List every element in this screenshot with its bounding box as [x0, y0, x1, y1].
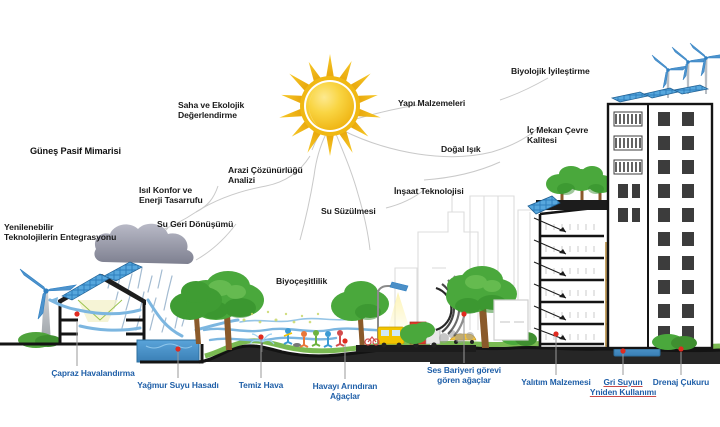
label-su-geri-donusumu: Su Geri Dönüşümü [157, 219, 233, 229]
label-yenilenebilir-teknolojilerin-entegrasyonu: Yenilenebilir Teknolojilerin Entegrasyon… [4, 222, 116, 243]
label-temiz-hava: Temiz Hava [239, 380, 283, 390]
label-ses-bariyeri-goren-agaclar: Ses Bariyeri görevi gören ağaçlar [427, 365, 501, 386]
label-biyocesitlilik: Biyoçeşitlilik [276, 276, 327, 286]
callout-marker-dot [175, 346, 180, 351]
passive-solar-house [0, 262, 146, 344]
callout-marker-dot [678, 346, 683, 351]
label-gunes-pasif-mimarisi: Güneş Pasif Mimarisi [30, 146, 121, 157]
green-high-rise [608, 43, 720, 348]
park-person [284, 328, 292, 344]
rooftop-garden [546, 166, 614, 200]
label-havayi-arindiran-agaclar: Havayı Arındıran Ağaçlar [313, 381, 378, 402]
callout-marker-dot [342, 338, 347, 343]
label-saha-ve-ekolojik-degerlendirme: Saha ve Ekolojik Değerlendirme [178, 100, 244, 121]
label-ic-mekan-cevre-kalitesi: İç Mekan Çevre Kalitesi [527, 125, 588, 146]
label-yalitim-malzemesi: Yalıtım Malzemesi [521, 377, 591, 387]
label-insaat-teknolojisi: İnşaat Teknolojisi [394, 186, 464, 196]
label-biyolojik-iyilestirme: Biyolojik İyileştirme [511, 66, 590, 76]
bus-icon [378, 327, 404, 347]
label-gri-suyun-yeniden-kullanimi: Gri Suyun Yniden Kullanımı [590, 377, 656, 398]
callout-marker-dot [74, 311, 79, 316]
callout-marker-dot [258, 334, 263, 339]
callout-marker-dot [553, 331, 558, 336]
label-capraz-havalandirma: Çapraz Havalandırma [51, 368, 134, 378]
label-drenaj-cukuru: Drenaj Çukuru [653, 377, 709, 387]
label-yagmur-suyu-hasadi: Yağmur Suyu Hasadı [137, 380, 219, 390]
adjacent-building-outline [494, 300, 528, 340]
callout-marker-dot [461, 311, 466, 316]
label-yapi-malzemeleri: Yapı Malzemeleri [398, 98, 465, 108]
label-dogal-isik: Doğal Işık [441, 144, 481, 154]
callout-marker-dot [620, 348, 625, 353]
label-su-suzulmesi: Su Süzülmesi [321, 206, 376, 216]
infographic-canvas: Güneş Pasif MimarisiYenilenebilir Teknol… [0, 0, 720, 427]
label-isil-konfor-ve-enerji-tasarrufu: Isıl Konfor ve Enerji Tasarrufu [139, 185, 203, 206]
park-dog [293, 343, 301, 347]
label-arazi-cozunurlugu-analizi: Arazi Çözünürlüğü Analizi [228, 165, 303, 186]
rooftop-solar-array [612, 85, 708, 102]
